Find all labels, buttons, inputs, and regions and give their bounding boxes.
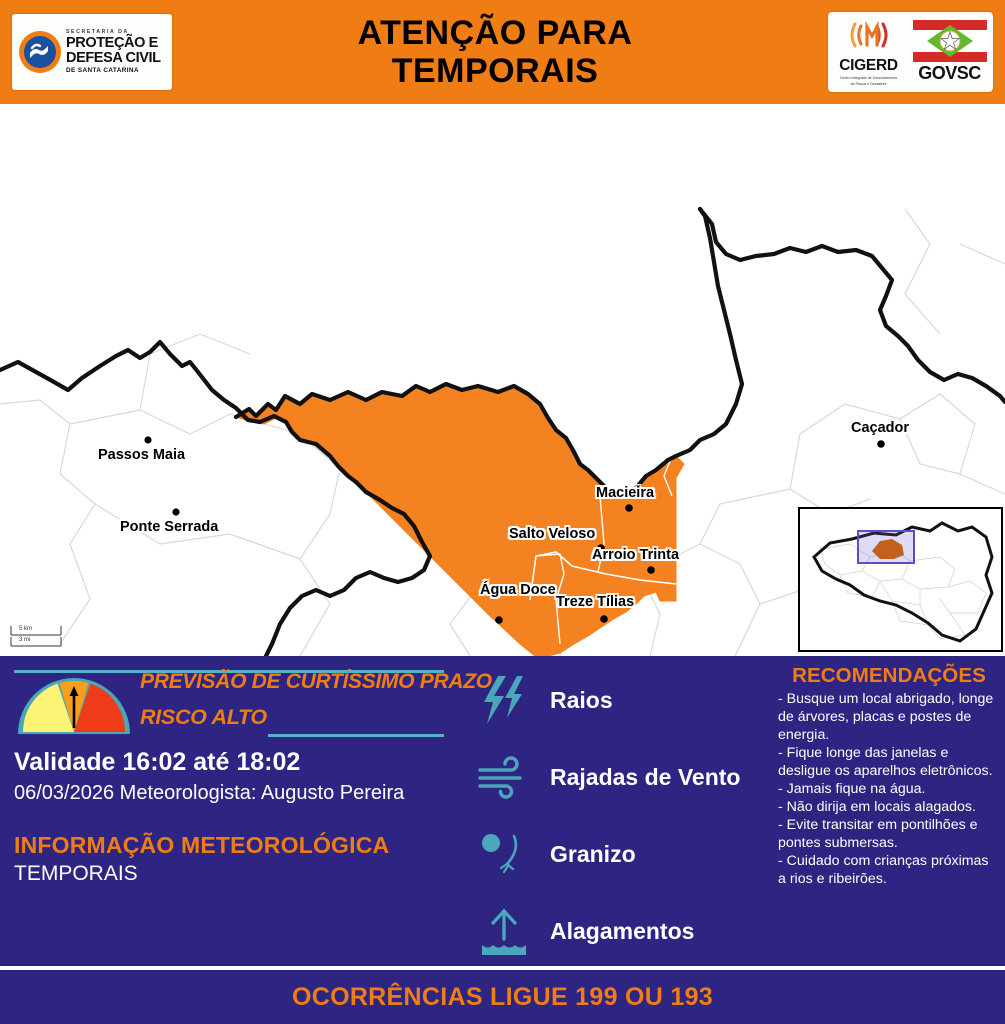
recommendations-list: - Busque um local abrigado, longe de árv… xyxy=(778,690,1000,888)
city-label-arroio-trinta: Arroio Trinta xyxy=(592,547,679,563)
govsc-logo: GOVSC xyxy=(911,20,989,84)
forecast-label: PREVISÃO DE CURTÍSSIMO PRAZO xyxy=(140,670,450,694)
logo-line3: DE SANTA CATARINA xyxy=(66,68,161,74)
hazard-alagamentos: Alagamentos xyxy=(478,905,694,957)
hazard-granizo: Granizo xyxy=(478,828,636,880)
recommendation-item: - Fique longe das janelas e desligue os … xyxy=(778,744,1000,780)
locator-inset-map[interactable] xyxy=(798,507,1003,652)
info-heading: INFORMAÇÃO METEOROLÓGICA xyxy=(14,832,389,859)
logo-line2: DEFESA CIVIL xyxy=(66,51,161,66)
info-body: TEMPORAIS xyxy=(14,862,138,886)
scale-mi: 3 mi xyxy=(19,637,30,643)
city-label-cacador: Caçador xyxy=(851,420,909,436)
recommendations-title: RECOMENDAÇÕES xyxy=(778,664,1000,688)
protecao-defesa-civil-logo: SECRETARIA DA PROTEÇÃO E DEFESA CIVIL DE… xyxy=(12,14,172,90)
divider-risk xyxy=(268,734,444,737)
recommendations-column: RECOMENDAÇÕES - Busque um local abrigado… xyxy=(778,664,1000,888)
page-title: ATENÇÃO PARA TEMPORAIS xyxy=(162,14,828,91)
map-scale-bar: 5 km 3 mi xyxy=(10,625,62,647)
recommendation-item: - Busque um local abrigado, longe de árv… xyxy=(778,690,1000,744)
cigerd-subtitle-1: Centro Integrado de Gerenciamento xyxy=(833,76,905,80)
city-label-macieira: Macieira xyxy=(596,485,654,501)
cigerd-waveform-icon xyxy=(845,18,893,52)
title-line-2: TEMPORAIS xyxy=(162,52,828,90)
logo-line1: PROTEÇÃO E xyxy=(66,36,161,51)
meteorologist-text: 06/03/2026 Meteorologista: Augusto Perei… xyxy=(14,782,404,805)
emergency-phone-text: OCORRÊNCIAS LIGUE 199 OU 193 xyxy=(292,983,713,1012)
hazard-label-alagamentos: Alagamentos xyxy=(550,918,694,945)
cigerd-logo: CIGERD Centro Integrado de Gerenciamento… xyxy=(833,18,905,86)
risk-column: PREVISÃO DE CURTÍSSIMO PRAZO RISCO ALTO … xyxy=(0,656,470,966)
recommendation-item: - Não dirija em locais alagados. xyxy=(778,798,1000,816)
santa-catarina-flag-icon xyxy=(913,20,987,62)
title-line-1: ATENÇÃO PARA xyxy=(162,14,828,52)
city-label-treze-tilias: Treze Tílias xyxy=(556,594,634,610)
city-label-ponte-serrada: Ponte Serrada xyxy=(120,519,218,535)
risk-level-label: RISCO ALTO xyxy=(140,705,450,730)
govsc-name: GOVSC xyxy=(911,63,989,84)
defesa-civil-emblem-icon xyxy=(19,31,61,73)
city-label-salto-veloso: Salto Veloso xyxy=(509,526,595,542)
recommendation-item: - Evite transitar em pontilhões e pontes… xyxy=(778,816,1000,852)
hazard-label-rajadas: Rajadas de Vento xyxy=(550,764,740,791)
recommendation-item: - Jamais fique na água. xyxy=(778,780,1000,798)
hazard-label-raios: Raios xyxy=(550,687,613,714)
risk-gauge xyxy=(14,674,134,738)
lightning-icon xyxy=(478,674,530,726)
info-panel: PREVISÃO DE CURTÍSSIMO PRAZO RISCO ALTO … xyxy=(0,656,1005,966)
hail-icon xyxy=(478,828,530,880)
hazard-rajadas-de-vento: Rajadas de Vento xyxy=(478,751,740,803)
scale-km: 5 km xyxy=(19,626,32,632)
header-banner: SECRETARIA DA PROTEÇÃO E DEFESA CIVIL DE… xyxy=(0,0,1005,104)
city-label-passos-maia: Passos Maia xyxy=(98,447,185,463)
hazard-label-granizo: Granizo xyxy=(550,841,636,868)
flood-icon xyxy=(478,905,530,957)
cigerd-subtitle-2: de Riscos e Desastres xyxy=(833,82,905,86)
cigerd-name: CIGERD xyxy=(833,57,905,75)
validity-text: Validade 16:02 até 18:02 xyxy=(14,748,300,777)
city-label-agua-doce: Água Doce xyxy=(480,583,528,598)
gov-suffix: SC xyxy=(957,63,981,83)
recommendation-item: - Cuidado com crianças próximas a rios e… xyxy=(778,852,1000,888)
hazards-column: Raios Rajadas de Vento xyxy=(478,666,778,966)
hazard-raios: Raios xyxy=(478,674,613,726)
wind-icon xyxy=(478,751,530,803)
footer-bar: OCORRÊNCIAS LIGUE 199 OU 193 xyxy=(0,970,1005,1024)
risk-text-block: PREVISÃO DE CURTÍSSIMO PRAZO RISCO ALTO xyxy=(140,670,450,730)
partner-logos: CIGERD Centro Integrado de Gerenciamento… xyxy=(828,12,993,92)
alert-map[interactable]: Passos Maia Ponte Serrada Macieira Salto… xyxy=(0,104,1005,656)
gov-prefix: GOV xyxy=(918,63,957,83)
